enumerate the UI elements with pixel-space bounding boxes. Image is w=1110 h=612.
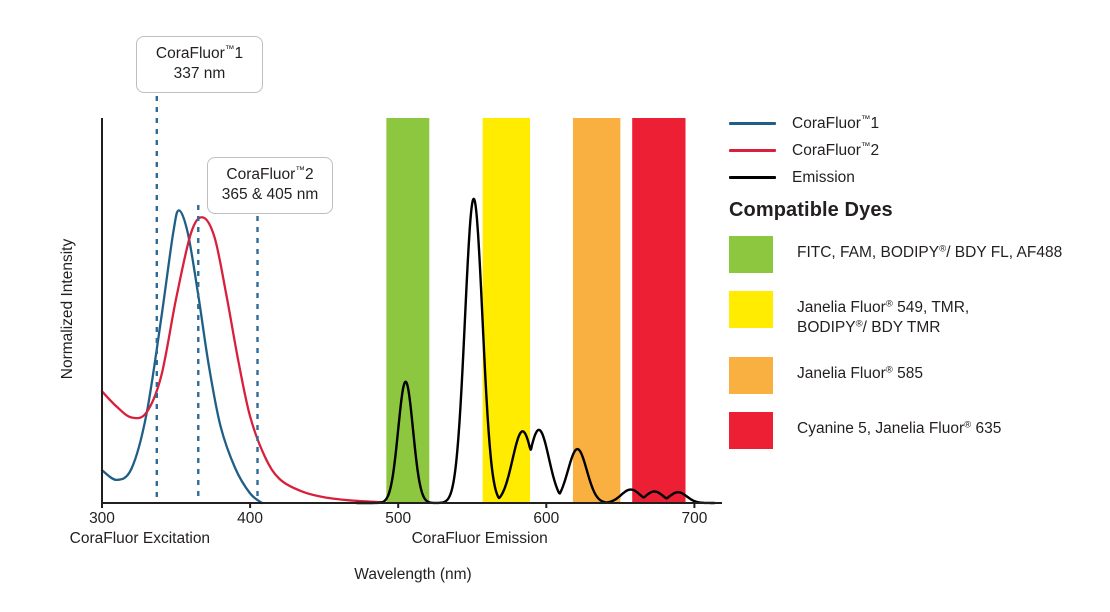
axis-sublabel-excitation: CoraFluor Excitation (0, 530, 280, 548)
legend-label-corafluor1: CoraFluor™1 (792, 114, 879, 133)
legend-item-corafluor2: CoraFluor™2 (729, 137, 1099, 164)
callout-corafluor1-line1: CoraFluor™1 (147, 44, 252, 64)
excitation-curve-1 (102, 217, 383, 502)
legend-line-swatch-emission (729, 176, 776, 179)
dye-label-janelia585: Janelia Fluor® 585 (797, 357, 923, 384)
x-tick-label-400: 400 (220, 510, 280, 528)
callout-corafluor1: CoraFluor™1 337 nm (136, 36, 263, 93)
series-legend: CoraFluor™1 CoraFluor™2 Emission (729, 110, 1099, 191)
dye-label-fitc: FITC, FAM, BODIPY®/ BDY FL, AF488 (797, 236, 1062, 263)
x-axis-title: Wavelength (nm) (0, 566, 826, 584)
dye-color-swatch-yellow (729, 291, 773, 328)
dye-label-janelia549: Janelia Fluor® 549, TMR, BODIPY®/ BDY TM… (797, 291, 969, 339)
x-tick-label-600: 600 (516, 510, 576, 528)
dye-item-janelia585: Janelia Fluor® 585 (729, 357, 1104, 394)
dye-item-cyanine5: Cyanine 5, Janelia Fluor® 635 (729, 412, 1104, 449)
x-tick-label-300: 300 (72, 510, 132, 528)
axis-sublabel-emission: CoraFluor Emission (354, 530, 606, 548)
legend-label-corafluor2: CoraFluor™2 (792, 141, 879, 160)
dye-band-2 (573, 118, 620, 504)
dye-color-swatch-green (729, 236, 773, 273)
y-axis-title: Normalized Intensity (59, 219, 77, 399)
fluorescence-spectra-figure: CoraFluor™1 337 nm CoraFluor™2 365 & 405… (0, 0, 1110, 612)
callout-corafluor2-line1: CoraFluor™2 (218, 165, 322, 185)
legend-line-swatch-corafluor1 (729, 122, 776, 125)
legend-item-corafluor1: CoraFluor™1 (729, 110, 1099, 137)
dye-item-janelia549: Janelia Fluor® 549, TMR, BODIPY®/ BDY TM… (729, 291, 1104, 339)
compatible-dyes-title: Compatible Dyes (729, 199, 893, 222)
dye-color-swatch-orange (729, 357, 773, 394)
legend-label-emission: Emission (792, 168, 855, 187)
callout-corafluor2-line2: 365 & 405 nm (218, 185, 322, 205)
dye-band-0 (386, 118, 429, 504)
x-tick-label-500: 500 (368, 510, 428, 528)
dye-color-swatch-red (729, 412, 773, 449)
x-tick-label-700: 700 (664, 510, 724, 528)
dye-label-cyanine5: Cyanine 5, Janelia Fluor® 635 (797, 412, 1001, 439)
dye-item-fitc: FITC, FAM, BODIPY®/ BDY FL, AF488 (729, 236, 1104, 273)
compatible-dyes-list: FITC, FAM, BODIPY®/ BDY FL, AF488 Janeli… (729, 236, 1104, 467)
callout-corafluor1-line2: 337 nm (147, 64, 252, 84)
legend-item-emission: Emission (729, 164, 1099, 191)
dye-band-3 (632, 118, 685, 504)
legend-line-swatch-corafluor2 (729, 149, 776, 152)
callout-corafluor2: CoraFluor™2 365 & 405 nm (207, 157, 333, 214)
